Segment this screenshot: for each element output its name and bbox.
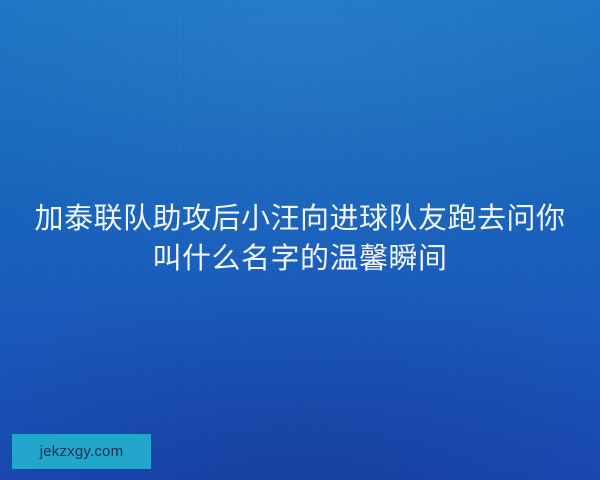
title-line-1: 加泰联队助攻后小汪向进球队友跑去问你	[18, 199, 582, 239]
title-block: 加泰联队助攻后小汪向进球队友跑去问你 叫什么名字的温馨瞬间	[0, 199, 600, 279]
watermark-label: jekzxgy.com	[40, 444, 124, 459]
title-line-2: 叫什么名字的温馨瞬间	[18, 239, 582, 279]
watermark-badge[interactable]: jekzxgy.com	[12, 434, 151, 469]
video-thumbnail-card[interactable]: 加泰联队助攻后小汪向进球队友跑去问你 叫什么名字的温馨瞬间 jekzxgy.co…	[0, 0, 600, 480]
